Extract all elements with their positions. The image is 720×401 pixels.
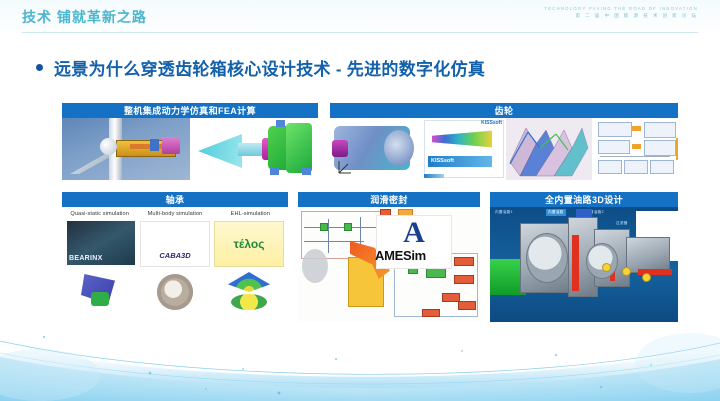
image-roller-bearing-cage-model [141, 270, 209, 314]
schematic-node-red-2 [454, 275, 474, 284]
oil3d-oilpath-1 [572, 235, 579, 291]
oil3d-housing-tail [626, 237, 670, 273]
image-bearing-shaft-model [67, 268, 135, 312]
fea-housing-rear-shape [286, 123, 312, 173]
tagline-chinese: 第 二 届 中 国 能 源 技 术 创 新 论 坛 [544, 12, 698, 19]
oil3d-marker-2 [622, 267, 631, 276]
image-gearbox-oil-circuit-3d-cutaway: 内置油路1 内置油路 内置油路2 过滤器 [490, 207, 678, 322]
logo-amesim-label: AMESim [375, 248, 426, 263]
oil3d-pinion-gear [586, 243, 618, 279]
workflow-box-5 [650, 160, 674, 174]
workflow-box-6 [644, 122, 676, 138]
page-title-text: 远景为什么穿透齿轮箱核心设计技术 - 先进的数字化仿真 [54, 55, 485, 80]
schematic-line-3 [328, 219, 329, 253]
image-gearbox-fea-mesh-model [190, 118, 318, 180]
ehl-contact-disc-shape [231, 294, 267, 310]
bearing-label-multi-body: Multi-body simulation [137, 207, 212, 221]
bearing-column-ehl: τέλος [212, 221, 286, 322]
bearing-label-ehl: EHL-simulation [213, 207, 288, 221]
image-ehl-pressure-distribution-plot [215, 270, 283, 314]
turbine-hub-shape [100, 138, 117, 155]
coordinate-axes-icon [336, 158, 354, 176]
kisssoft-window-frame [424, 120, 504, 178]
footer-wave-decoration [0, 323, 720, 401]
nacelle-brake-shape [150, 139, 159, 151]
panel-lubrication-body: A AMESim [298, 207, 480, 322]
logo-telos-label: τέλος [234, 237, 265, 251]
schematic-node-red-1 [454, 257, 474, 266]
panel-bearing-heading: 轴承 [62, 192, 288, 207]
nacelle-generator-shape [162, 137, 180, 154]
logo-telos: τέλος [214, 221, 284, 267]
oil3d-callout-1: 内置油路1 [495, 210, 513, 215]
image-gear-design-workflow-diagram [592, 118, 678, 180]
panel-lubrication-heading: 润滑密封 [298, 192, 480, 207]
kisssoft-brand-label: KISSsoft [481, 120, 502, 126]
bearing-column-multi-body: CABA3D [138, 221, 212, 322]
workflow-box-3 [598, 160, 622, 174]
workflow-arrow-3 [676, 138, 678, 160]
slide-header: 技术 铺就革新之路 TECHNOLOGY PAVING THE ROAD OF … [0, 0, 720, 34]
panel-gear-body: KISSsoft KISSsoft [330, 118, 678, 180]
panel-gear-heading: 齿轮 [330, 103, 678, 118]
oil3d-marker-1 [602, 263, 611, 272]
page-title: 远景为什么穿透齿轮箱核心设计技术 - 先进的数字化仿真 [36, 55, 485, 80]
image-kisssoft-shaft-model: KISSsoft KISSsoft [422, 118, 506, 180]
workflow-arrow-1 [632, 126, 641, 131]
logo-amesim: A AMESim [376, 215, 452, 269]
image-tooth-contact-surface-plot [506, 118, 592, 180]
logo-bearinx: BEARINX [67, 221, 135, 265]
workflow-arrow-2 [632, 144, 641, 149]
image-gearbox-3d-assembly [330, 118, 422, 180]
panel-drivetrain-body [62, 118, 318, 180]
panel-oil3d-body: 内置油路1 内置油路 内置油路2 过滤器 [490, 207, 678, 322]
conference-tagline: TECHNOLOGY PAVING THE ROAD OF INNOVATION… [544, 5, 698, 19]
image-wind-turbine-nacelle-cutaway [62, 118, 190, 180]
image-amesim-hydraulic-network-schematic: A AMESim [298, 207, 480, 322]
oil3d-callout-4: 过滤器 [616, 221, 628, 226]
oil3d-callout-2: 内置油路 [546, 209, 566, 216]
schematic-node-red-4 [458, 301, 476, 310]
workflow-box-7 [644, 140, 676, 156]
bearing-column-quasi-static: BEARINX [64, 221, 138, 322]
oil3d-marker-3 [642, 273, 651, 282]
bearing-shaft-highlight [91, 292, 109, 306]
workflow-connector [600, 156, 670, 157]
bearing-label-quasi-static: Quasi-static simulation [62, 207, 137, 221]
workflow-box-1 [598, 122, 632, 137]
kisssoft-status-strip [424, 174, 444, 178]
fea-support-top [276, 120, 285, 127]
tagline-english: TECHNOLOGY PAVING THE ROAD OF INNOVATION [544, 5, 698, 12]
bearing-column-labels: Quasi-static simulation Multi-body simul… [62, 207, 288, 221]
bullet-icon [36, 64, 43, 71]
schematic-shadow-blob [302, 249, 328, 283]
footer-wave-svg [0, 323, 720, 401]
ehl-pressure-surface-shape [228, 272, 270, 292]
fea-support-right [302, 168, 311, 175]
bearing-column-grid: BEARINX CABA3D τέλος [62, 221, 288, 322]
panel-bearing[interactable]: 轴承 Quasi-static simulation Multi-body si… [62, 192, 288, 322]
header-divider [22, 32, 698, 33]
brand-title: 技术 铺就革新之路 [22, 7, 147, 27]
logo-caba3d: CABA3D [140, 221, 210, 267]
workflow-box-2 [598, 140, 630, 154]
kisssoft-title-bar-label: KISSsoft [431, 158, 454, 164]
schematic-node-green-1 [320, 223, 328, 231]
panel-lubrication[interactable]: 润滑密封 A AMESim [298, 192, 480, 322]
workflow-box-4 [624, 160, 648, 174]
fea-cone-shape [198, 134, 242, 168]
logo-bearinx-label: BEARINX [69, 255, 103, 262]
oil3d-planet-gear [526, 233, 568, 283]
panel-bearing-body: Quasi-static simulation Multi-body simul… [62, 207, 288, 322]
schematic-node-red-5 [422, 309, 440, 317]
schematic-line-2 [304, 241, 364, 242]
gearbox-input-shape [332, 140, 348, 157]
kisssoft-title-bar: KISSsoft [428, 156, 492, 167]
logo-caba3d-label: CABA3D [159, 251, 190, 260]
panel-gear[interactable]: 齿轮 KISSsoft KISSsoft [330, 103, 678, 180]
gearbox-ring-shape [384, 130, 414, 166]
fea-support-left [270, 168, 279, 175]
tooth-contact-surface-svg [506, 118, 592, 180]
schematic-node-green-2 [344, 223, 352, 231]
amesim-logo-letter: A [403, 218, 425, 248]
roller-bearing-ring-shape [157, 274, 193, 310]
panel-drivetrain[interactable]: 整机集成动力学仿真和FEA计算 [62, 103, 318, 180]
panel-oil3d-heading: 全内置油路3D设计 [490, 192, 678, 207]
panel-drivetrain-heading: 整机集成动力学仿真和FEA计算 [62, 103, 318, 118]
panel-oil3d[interactable]: 全内置油路3D设计 内置油路1 内置油路 内置油路2 过滤器 [490, 192, 678, 322]
